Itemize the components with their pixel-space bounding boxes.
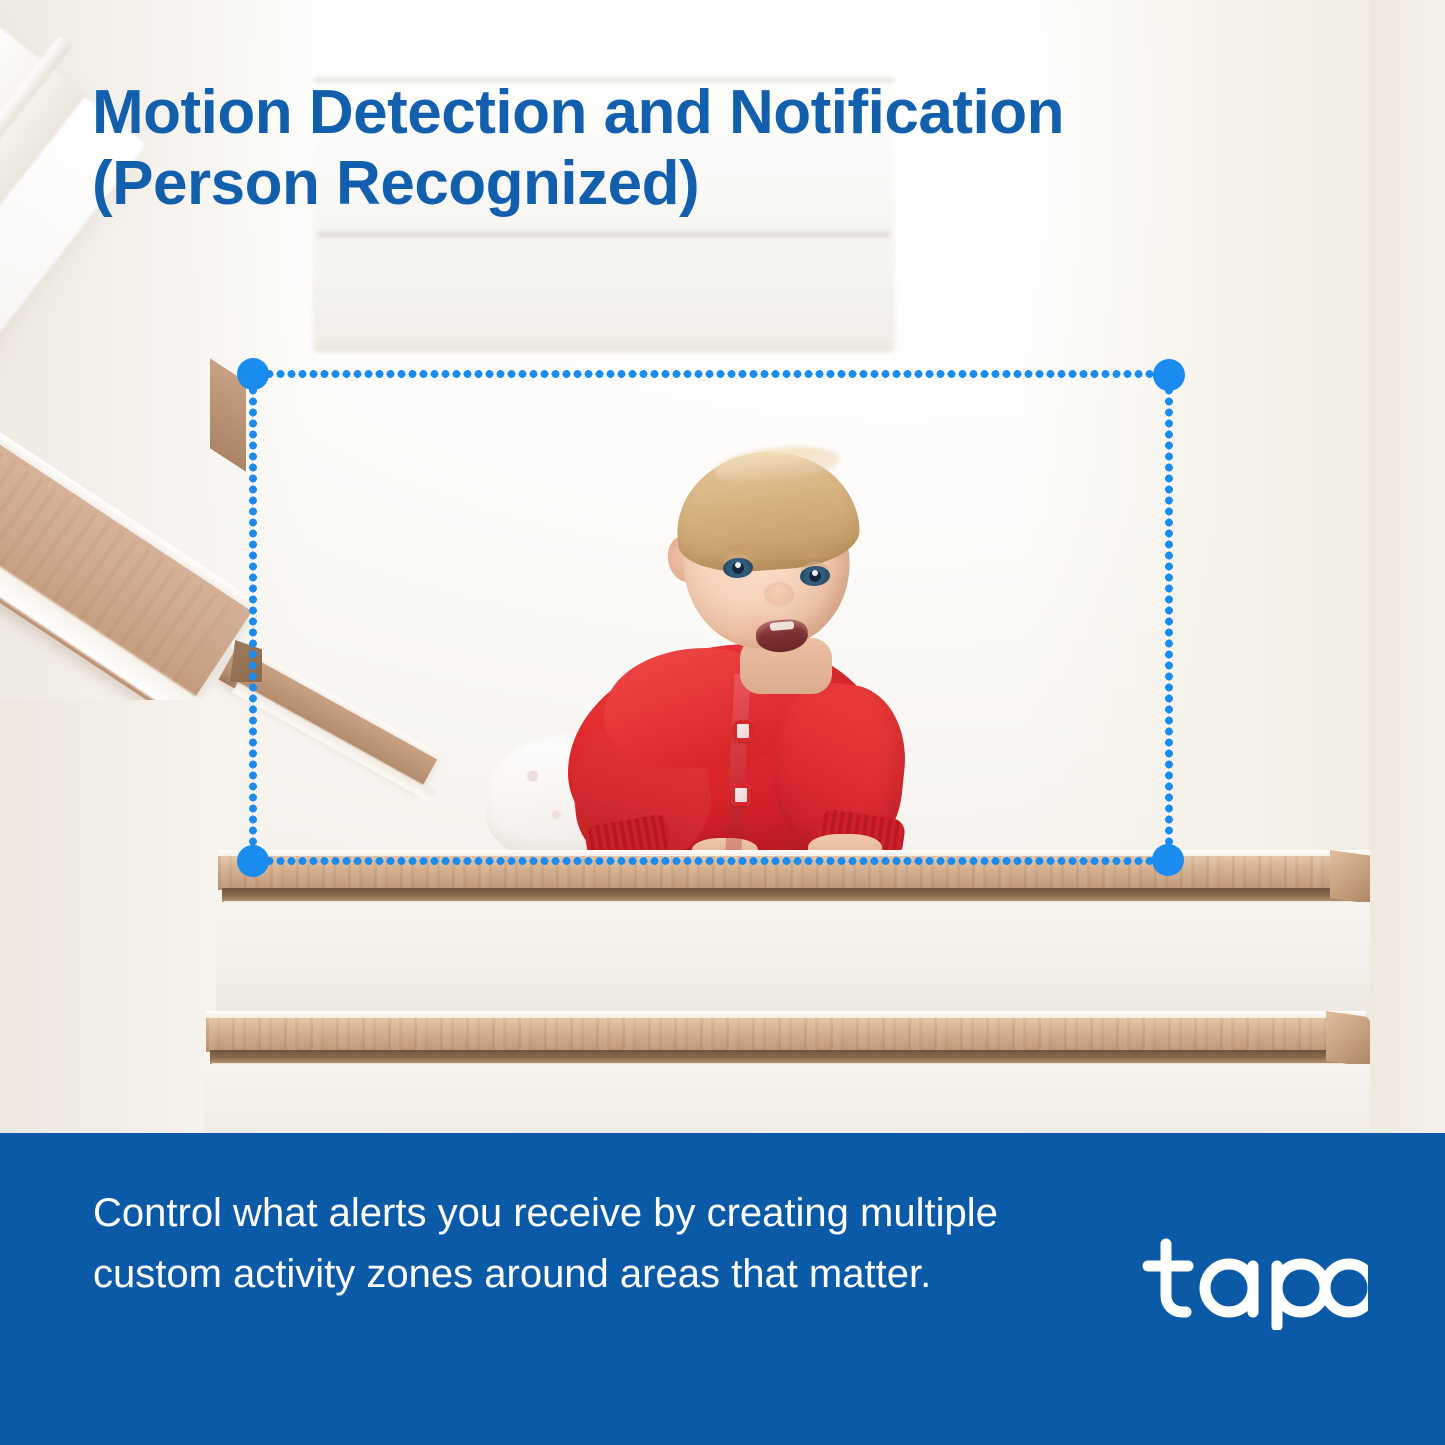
window-valance bbox=[313, 0, 895, 22]
stair-tread-upper-grain bbox=[218, 856, 1370, 890]
page-title: Motion Detection and Notification (Perso… bbox=[92, 78, 1212, 219]
stair-riser-upper bbox=[216, 902, 1374, 1022]
promo-graphic: Motion Detection and Notification (Perso… bbox=[0, 0, 1445, 1445]
baby-subject bbox=[478, 462, 948, 862]
tapo-logo: tapo bbox=[1136, 1236, 1368, 1330]
banner-description: Control what alerts you receive by creat… bbox=[93, 1183, 1053, 1305]
wall-far-right bbox=[1370, 0, 1445, 1133]
baby-eye-highlight-right bbox=[812, 570, 818, 576]
baby-eye-highlight-left bbox=[735, 562, 741, 568]
stair-tread-upper-shadow bbox=[222, 888, 1370, 902]
stair-tread-lower-grain bbox=[206, 1018, 1366, 1052]
page-title-line-1: Motion Detection and Notification bbox=[92, 78, 1064, 147]
stair-riser-lower bbox=[204, 1064, 1374, 1133]
stair-tread-lower-shadow bbox=[210, 1050, 1366, 1064]
baby-cardigan-button-lower bbox=[731, 784, 751, 806]
baby-nose bbox=[764, 582, 794, 606]
baby-cardigan-button-upper bbox=[733, 720, 753, 742]
window-sill bbox=[315, 330, 893, 352]
page-title-line-2: (Person Recognized) bbox=[92, 149, 1212, 220]
window-frame-bar-bottom bbox=[318, 232, 890, 237]
